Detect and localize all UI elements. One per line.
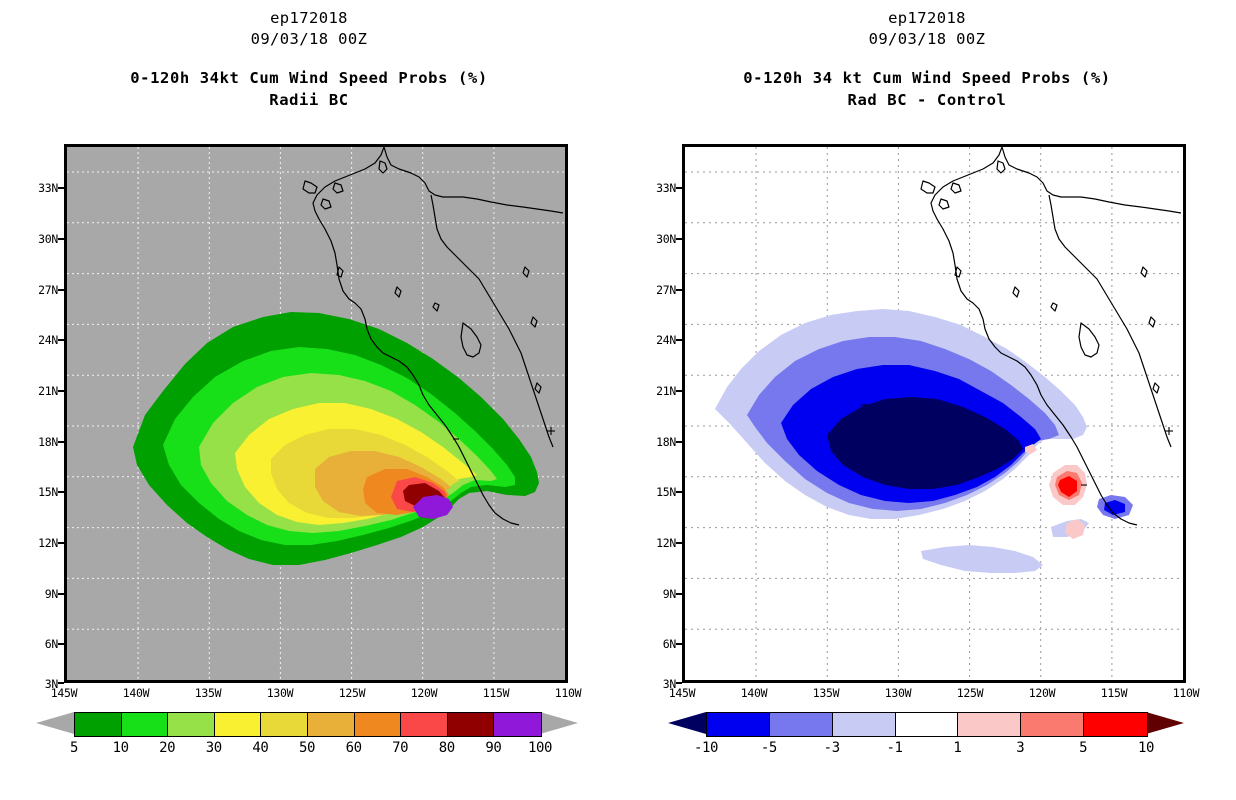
colorbar-swatch[interactable] <box>1021 713 1084 736</box>
ytick-mark <box>58 187 64 189</box>
contour-field-left <box>67 147 565 680</box>
colorbar-swatch[interactable] <box>401 713 448 736</box>
ytick-label: 27N <box>632 283 676 297</box>
colorbar-swatch[interactable] <box>896 713 959 736</box>
ytick-label: 12N <box>14 536 58 550</box>
colorbar-swatch[interactable] <box>494 713 541 736</box>
right-panel-titles: ep172018 09/03/18 00Z 0-120h 34 kt Cum W… <box>618 8 1236 111</box>
colorbar-tick-label: 20 <box>159 740 175 756</box>
ytick-mark <box>676 441 682 443</box>
colorbar-swatch[interactable] <box>215 713 262 736</box>
colorbar-tick-label: 70 <box>392 740 408 756</box>
colorbar-tick-label: -10 <box>694 740 718 756</box>
ytick-mark <box>676 593 682 595</box>
chart-subtitle: Radii BC <box>0 89 618 111</box>
figure-root: ep172018 09/03/18 00Z 0-120h 34kt Cum Wi… <box>0 0 1236 800</box>
ytick-label: 33N <box>632 181 676 195</box>
colorbar-swatch[interactable] <box>770 713 833 736</box>
ytick-mark <box>58 390 64 392</box>
colorbar-tick-label: -1 <box>887 740 903 756</box>
colorbar-tick-label: 40 <box>252 740 268 756</box>
ytick-mark <box>676 643 682 645</box>
ytick-mark <box>58 682 64 684</box>
ytick-label: 6N <box>14 637 58 651</box>
chart-subtitle: Rad BC - Control <box>618 89 1236 111</box>
ytick-label: 24N <box>14 333 58 347</box>
ytick-label: 30N <box>14 232 58 246</box>
ytick-mark <box>676 187 682 189</box>
xtick-label: 120W <box>1018 686 1066 700</box>
ytick-mark <box>676 542 682 544</box>
colorbar-swatch[interactable] <box>1084 713 1147 736</box>
panel-radii-bc: ep172018 09/03/18 00Z 0-120h 34kt Cum Wi… <box>0 0 618 800</box>
xtick-label: 130W <box>256 686 304 700</box>
ytick-mark <box>58 491 64 493</box>
map-plot-difference[interactable] <box>682 144 1186 683</box>
colorbar-tick-label: 1 <box>953 740 961 756</box>
colorbar-tick-label: 10 <box>113 740 129 756</box>
xtick-label: 135W <box>802 686 850 700</box>
colorbar-tick-label: 90 <box>485 740 501 756</box>
ytick-label: 24N <box>632 333 676 347</box>
forecast-datetime: 09/03/18 00Z <box>0 29 618 50</box>
xtick-label: 145W <box>40 686 88 700</box>
ytick-label: 6N <box>632 637 676 651</box>
colorbar-swatch[interactable] <box>707 713 770 736</box>
xtick-label: 115W <box>1090 686 1138 700</box>
ytick-mark <box>676 289 682 291</box>
xtick-label: 125W <box>946 686 994 700</box>
panel-rad-bc-minus-control: ep172018 09/03/18 00Z 0-120h 34 kt Cum W… <box>618 0 1236 800</box>
ytick-mark <box>58 542 64 544</box>
xtick-label: 110W <box>1162 686 1210 700</box>
colorbar-tick-label: 100 <box>528 740 552 756</box>
ytick-mark <box>676 682 682 684</box>
ytick-label: 15N <box>14 485 58 499</box>
ytick-label: 18N <box>632 435 676 449</box>
colorbar-swatch[interactable] <box>168 713 215 736</box>
ytick-label: 30N <box>632 232 676 246</box>
chart-title: 0-120h 34kt Cum Wind Speed Probs (%) <box>0 67 618 89</box>
xtick-label: 140W <box>730 686 778 700</box>
probability-contours <box>133 312 539 565</box>
colorbar-tick-label: 60 <box>346 740 362 756</box>
colorbar-swatch[interactable] <box>448 713 495 736</box>
colorbar-difference[interactable]: -10-5-3-113510 <box>618 712 1236 772</box>
forecast-datetime: 09/03/18 00Z <box>618 29 1236 50</box>
xtick-label: 130W <box>874 686 922 700</box>
xtick-label: 145W <box>658 686 706 700</box>
ytick-mark <box>58 339 64 341</box>
ytick-label: 21N <box>632 384 676 398</box>
colorbar-cap-left <box>36 712 74 734</box>
ytick-label: 33N <box>14 181 58 195</box>
colorbar-cap-left <box>668 712 706 734</box>
colorbar-tick-label: 5 <box>1079 740 1087 756</box>
colorbar-swatch[interactable] <box>75 713 122 736</box>
ytick-label: 21N <box>14 384 58 398</box>
storm-id: ep172018 <box>0 8 618 29</box>
colorbar-tick-label: -5 <box>761 740 777 756</box>
difference-contours <box>715 309 1133 573</box>
colorbar-tick-label: 10 <box>1138 740 1154 756</box>
ytick-label: 9N <box>14 587 58 601</box>
ytick-mark <box>676 339 682 341</box>
xtick-label: 110W <box>544 686 592 700</box>
ytick-mark <box>676 390 682 392</box>
ytick-label: 9N <box>632 587 676 601</box>
storm-id: ep172018 <box>618 8 1236 29</box>
xtick-label: 125W <box>328 686 376 700</box>
colorbar-tick-label: 3 <box>1016 740 1024 756</box>
ytick-mark <box>676 238 682 240</box>
ytick-mark <box>58 593 64 595</box>
colorbar-probability[interactable]: 5102030405060708090100 <box>0 712 618 772</box>
ytick-mark <box>676 491 682 493</box>
colorbar-swatch[interactable] <box>355 713 402 736</box>
ytick-mark <box>58 238 64 240</box>
colorbar-swatch[interactable] <box>833 713 896 736</box>
xtick-label: 115W <box>472 686 520 700</box>
colorbar-tick-label: 50 <box>299 740 315 756</box>
xtick-label: 140W <box>112 686 160 700</box>
ytick-label: 27N <box>14 283 58 297</box>
colorbar-cap-right <box>1146 712 1184 734</box>
ytick-mark <box>58 289 64 291</box>
ytick-label: 15N <box>632 485 676 499</box>
colorbar-cap-right <box>540 712 578 734</box>
xtick-label: 120W <box>400 686 448 700</box>
colorbar-tick-label: 30 <box>206 740 222 756</box>
ytick-mark <box>58 643 64 645</box>
xtick-label: 135W <box>184 686 232 700</box>
colorbar-swatch[interactable] <box>122 713 169 736</box>
chart-title: 0-120h 34 kt Cum Wind Speed Probs (%) <box>618 67 1236 89</box>
left-panel-titles: ep172018 09/03/18 00Z 0-120h 34kt Cum Wi… <box>0 8 618 111</box>
colorbar-tick-label: 80 <box>439 740 455 756</box>
ytick-label: 12N <box>632 536 676 550</box>
colorbar-swatch[interactable] <box>261 713 308 736</box>
colorbar-swatch[interactable] <box>308 713 355 736</box>
colorbar-tick-label: -3 <box>824 740 840 756</box>
map-plot-radii-bc[interactable] <box>64 144 568 683</box>
colorbar-tick-label: 5 <box>70 740 78 756</box>
colorbar-swatch[interactable] <box>958 713 1021 736</box>
ytick-label: 18N <box>14 435 58 449</box>
contour-field-right <box>685 147 1183 680</box>
ytick-mark <box>58 441 64 443</box>
contour-band-neg1-b <box>921 545 1043 573</box>
